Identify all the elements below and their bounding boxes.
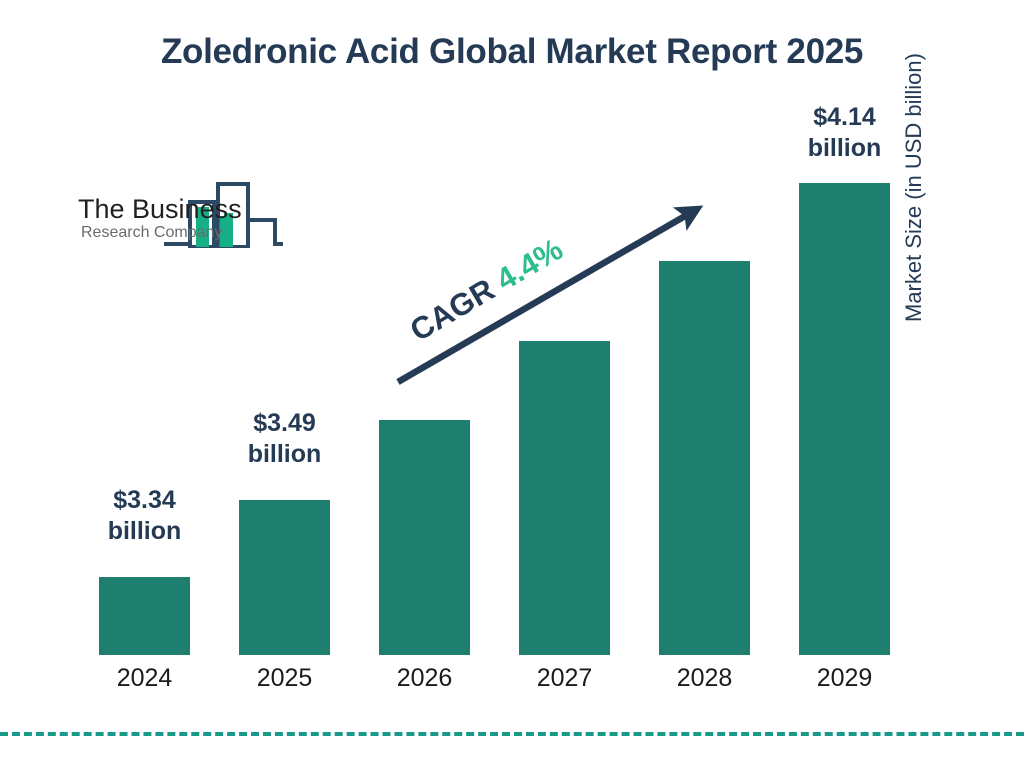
bar-2027 — [519, 341, 610, 655]
bar-value-label-2029: $4.14billion — [774, 102, 915, 163]
bar-2029 — [799, 183, 890, 655]
bar-value-label-2024: $3.34billion — [74, 485, 215, 546]
x-tick-2025: 2025 — [239, 664, 330, 693]
bar-value-amount-2029: $4.14billion — [774, 102, 915, 163]
cagr-label-value: 4.4% — [490, 231, 569, 297]
bar-value-label-2025: $3.49billion — [214, 408, 355, 469]
cagr-label-text: CAGR — [404, 272, 500, 348]
x-tick-2029: 2029 — [799, 664, 890, 693]
bar-2028 — [659, 261, 750, 655]
bar-2026 — [379, 420, 470, 655]
bar-chart-plot-area: $3.34billion $3.49billion $4.14billion 2… — [0, 0, 1024, 768]
cagr-label: CAGR 4.4% — [404, 231, 569, 349]
footer-divider — [0, 732, 1024, 736]
x-tick-2026: 2026 — [379, 664, 470, 693]
x-tick-2024: 2024 — [99, 664, 190, 693]
bar-value-amount-2024: $3.34billion — [74, 485, 215, 546]
y-axis-title: Market Size (in USD billion) — [901, 0, 927, 322]
bar-value-amount-2025: $3.49billion — [214, 408, 355, 469]
market-report-chart-page: Zoledronic Acid Global Market Report 202… — [0, 0, 1024, 768]
bar-2024 — [99, 577, 190, 655]
x-tick-2027: 2027 — [519, 664, 610, 693]
x-tick-2028: 2028 — [659, 664, 750, 693]
bar-2025 — [239, 500, 330, 655]
